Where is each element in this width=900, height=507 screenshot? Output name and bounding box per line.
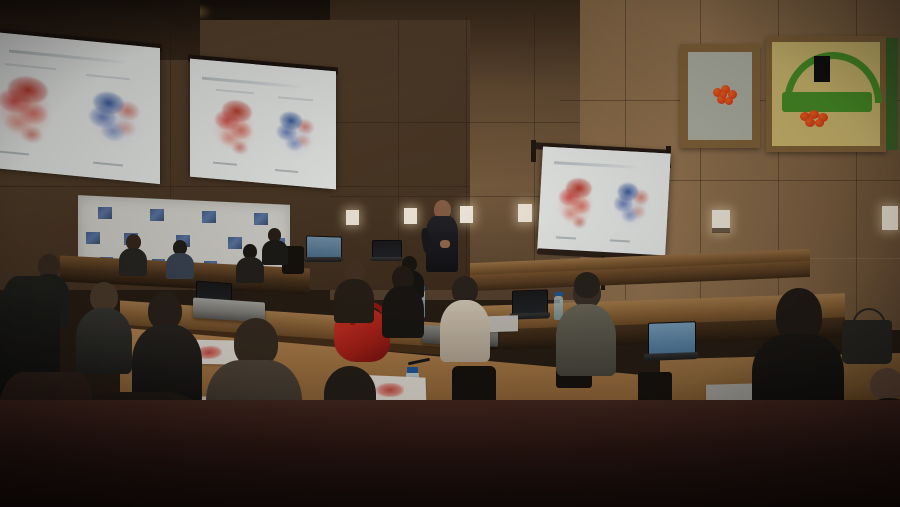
map-caption-bar [275, 169, 298, 173]
banner-logo-tile [202, 211, 216, 223]
artwork-edge-strip [886, 38, 898, 150]
floor [0, 400, 900, 507]
left-screen-slide [0, 32, 160, 184]
germany-map-red [0, 69, 63, 153]
banner-logo-tile [150, 209, 164, 221]
flower-petal [725, 97, 733, 105]
green-arch-base [782, 92, 872, 112]
screen-mount-arm [531, 140, 536, 162]
conference-room-photo: Conference Room Presentation Lecture hal… [0, 0, 900, 507]
attendee [166, 240, 194, 278]
germany-map-blue [269, 103, 324, 167]
slide-subtitle-bar [216, 89, 254, 94]
attendee-body [119, 248, 147, 276]
wall-sconce [346, 210, 359, 225]
attendee-head [574, 272, 600, 298]
wall-sconce [518, 204, 532, 222]
slide-subtitle-bar [278, 96, 313, 101]
attendee-head [234, 318, 278, 366]
slide-title-bar [202, 76, 301, 88]
wall-seam [466, 18, 467, 273]
right-screen-slide [537, 147, 671, 258]
banner-logo-tile [86, 232, 100, 244]
flower-petal [805, 118, 815, 127]
attendee [118, 234, 148, 274]
attendee-body [236, 257, 264, 283]
attendee [236, 244, 264, 282]
banner-logo-tile [98, 207, 112, 219]
attendee [574, 272, 600, 298]
slide-subtitle-bar [86, 74, 130, 80]
map-caption-bar [609, 240, 630, 243]
attendee-head [870, 368, 900, 402]
map-caption-bar [213, 162, 236, 166]
attendee-body [166, 253, 194, 279]
flower-center [720, 91, 727, 98]
germany-map-blue [605, 175, 659, 238]
attendee-body [262, 240, 288, 265]
map-caption-bar [93, 161, 123, 166]
attendee-body [440, 300, 490, 362]
wall-sconce [404, 208, 417, 224]
wall-seam [398, 20, 399, 270]
attendee [132, 292, 202, 400]
banner-logo-tile [254, 213, 268, 225]
wall-seam [0, 186, 470, 187]
germany-map-blue [79, 81, 153, 162]
wall-sconce [882, 206, 898, 230]
attendee-body [556, 304, 616, 376]
map-caption-bar [556, 237, 577, 240]
attendee-body [334, 279, 374, 323]
map-caption-bar [0, 151, 29, 156]
center-screen-slide [190, 59, 336, 190]
attendee [382, 266, 424, 334]
attendee [262, 228, 288, 264]
left-projection-screen[interactable] [0, 32, 160, 184]
attendee-body [382, 286, 424, 338]
flower-petal [815, 119, 824, 127]
slide-title-bar [9, 50, 127, 64]
wall-seam [170, 28, 171, 198]
attendee [440, 276, 490, 358]
germany-map-red [548, 174, 602, 235]
bag[interactable] [842, 320, 892, 364]
presenter [424, 200, 464, 272]
center-projection-screen[interactable] [190, 59, 336, 190]
slide-title-bar [554, 161, 639, 169]
attendee-body [76, 308, 132, 374]
presenter-hand [440, 240, 450, 248]
wall-seam [330, 122, 580, 123]
black-window-shape [814, 56, 830, 82]
germany-map-red [205, 95, 263, 161]
attendee [334, 260, 374, 318]
right-pulldown-screen[interactable] [537, 147, 671, 258]
attendee [76, 282, 132, 368]
slide-subtitle-bar [5, 63, 55, 70]
wall-sconce-shade [712, 228, 730, 233]
